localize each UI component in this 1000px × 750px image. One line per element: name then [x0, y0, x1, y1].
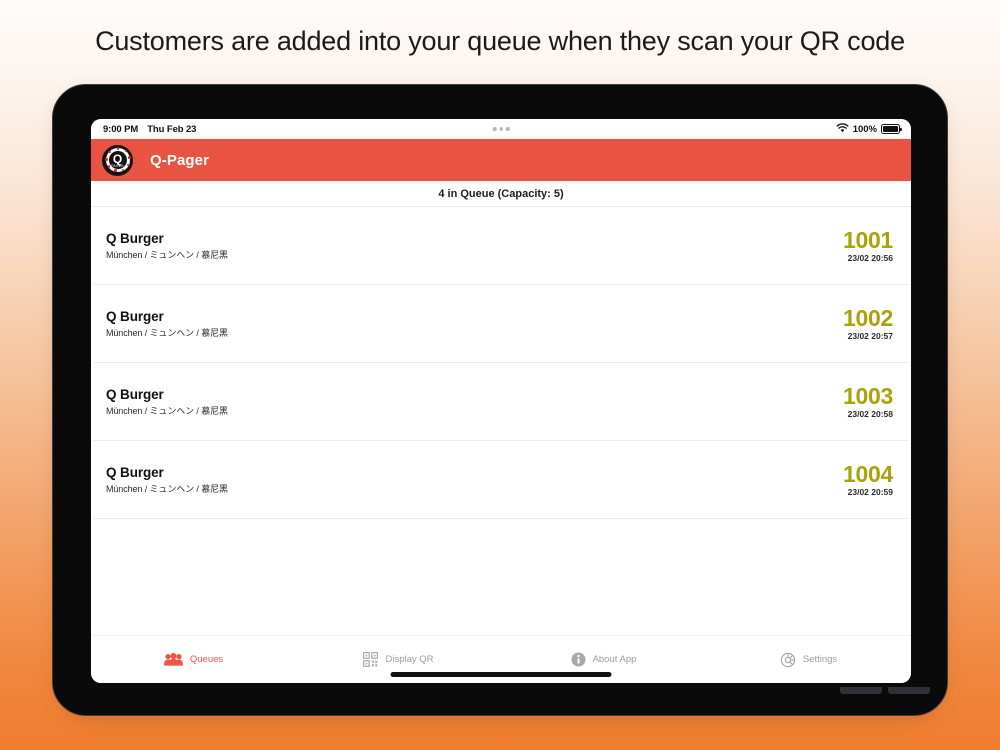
tab-settings[interactable]: Settings — [706, 652, 911, 668]
logo-text: PAGER — [111, 165, 124, 168]
tab-label: Settings — [803, 654, 837, 665]
ticket-number: 1002 — [843, 306, 893, 330]
row-info: Q Burger München / ミュンヘン / 慕尼黑 — [106, 465, 228, 495]
tablet-screen: 9:00 PM Thu Feb 23 100% — [91, 119, 911, 683]
status-time: 9:00 PM — [103, 124, 138, 135]
home-indicator[interactable] — [391, 672, 612, 677]
ticket-number: 1003 — [843, 384, 893, 408]
three-dots-icon[interactable] — [493, 127, 510, 131]
ticket-timestamp: 23/02 20:56 — [848, 253, 893, 263]
gear-icon — [780, 652, 796, 668]
ticket-number: 1004 — [843, 462, 893, 486]
qr-code-icon — [363, 652, 378, 667]
dot — [493, 127, 497, 131]
row-ticket: 1001 23/02 20:56 — [843, 228, 893, 263]
tab-label: Queues — [190, 654, 223, 665]
queue-capacity-label: 4 in Queue (Capacity: 5) — [91, 181, 911, 207]
customer-location: München / ミュンヘン / 慕尼黑 — [106, 404, 228, 417]
battery-percent-label: 100% — [853, 124, 877, 135]
tablet-foot-right — [888, 687, 930, 694]
battery-full-icon — [881, 124, 900, 134]
dot — [506, 127, 510, 131]
tab-label: About App — [593, 654, 637, 665]
app-title: Q-Pager — [150, 152, 209, 169]
logo-letter: Q — [113, 153, 122, 165]
status-bar: 9:00 PM Thu Feb 23 100% — [91, 119, 911, 139]
app-header-bar: Q PAGER Q-Pager — [91, 139, 911, 181]
customer-location: München / ミュンヘン / 慕尼黑 — [106, 248, 228, 261]
ticket-timestamp: 23/02 20:59 — [848, 487, 893, 497]
ticket-timestamp: 23/02 20:57 — [848, 331, 893, 341]
table-row[interactable]: Q Burger München / ミュンヘン / 慕尼黑 1002 23/0… — [93, 285, 909, 363]
dot — [499, 127, 503, 131]
customer-name: Q Burger — [106, 231, 228, 246]
tab-label: Display QR — [385, 654, 433, 665]
status-bar-left: 9:00 PM Thu Feb 23 — [103, 124, 196, 135]
page-title: Customers are added into your queue when… — [0, 26, 1000, 57]
queue-list: Q Burger München / ミュンヘン / 慕尼黑 1001 23/0… — [91, 207, 911, 519]
table-row[interactable]: Q Burger München / ミュンヘン / 慕尼黑 1003 23/0… — [93, 363, 909, 441]
row-info: Q Burger München / ミュンヘン / 慕尼黑 — [106, 309, 228, 339]
people-group-icon — [164, 653, 183, 666]
tab-display-qr[interactable]: Display QR — [296, 652, 501, 667]
customer-location: München / ミュンヘン / 慕尼黑 — [106, 326, 228, 339]
table-row[interactable]: Q Burger München / ミュンヘン / 慕尼黑 1004 23/0… — [93, 441, 909, 519]
ticket-number: 1001 — [843, 228, 893, 252]
tablet-foot-left — [840, 687, 882, 694]
row-ticket: 1003 23/02 20:58 — [843, 384, 893, 419]
customer-location: München / ミュンヘン / 慕尼黑 — [106, 482, 228, 495]
tab-queues[interactable]: Queues — [91, 653, 296, 666]
row-ticket: 1004 23/02 20:59 — [843, 462, 893, 497]
row-info: Q Burger München / ミュンヘン / 慕尼黑 — [106, 231, 228, 261]
ticket-timestamp: 23/02 20:58 — [848, 409, 893, 419]
q-pager-logo-icon: Q PAGER — [102, 145, 133, 176]
row-info: Q Burger München / ミュンヘン / 慕尼黑 — [106, 387, 228, 417]
row-ticket: 1002 23/02 20:57 — [843, 306, 893, 341]
status-bar-right: 100% — [836, 123, 900, 136]
customer-name: Q Burger — [106, 309, 228, 324]
status-date: Thu Feb 23 — [147, 124, 196, 135]
customer-name: Q Burger — [106, 465, 228, 480]
table-row[interactable]: Q Burger München / ミュンヘン / 慕尼黑 1001 23/0… — [93, 207, 909, 285]
customer-name: Q Burger — [106, 387, 228, 402]
tablet-device-frame: 9:00 PM Thu Feb 23 100% — [52, 84, 948, 716]
info-circle-icon — [571, 652, 586, 667]
tab-about-app[interactable]: About App — [501, 652, 706, 667]
wifi-icon — [836, 123, 849, 136]
